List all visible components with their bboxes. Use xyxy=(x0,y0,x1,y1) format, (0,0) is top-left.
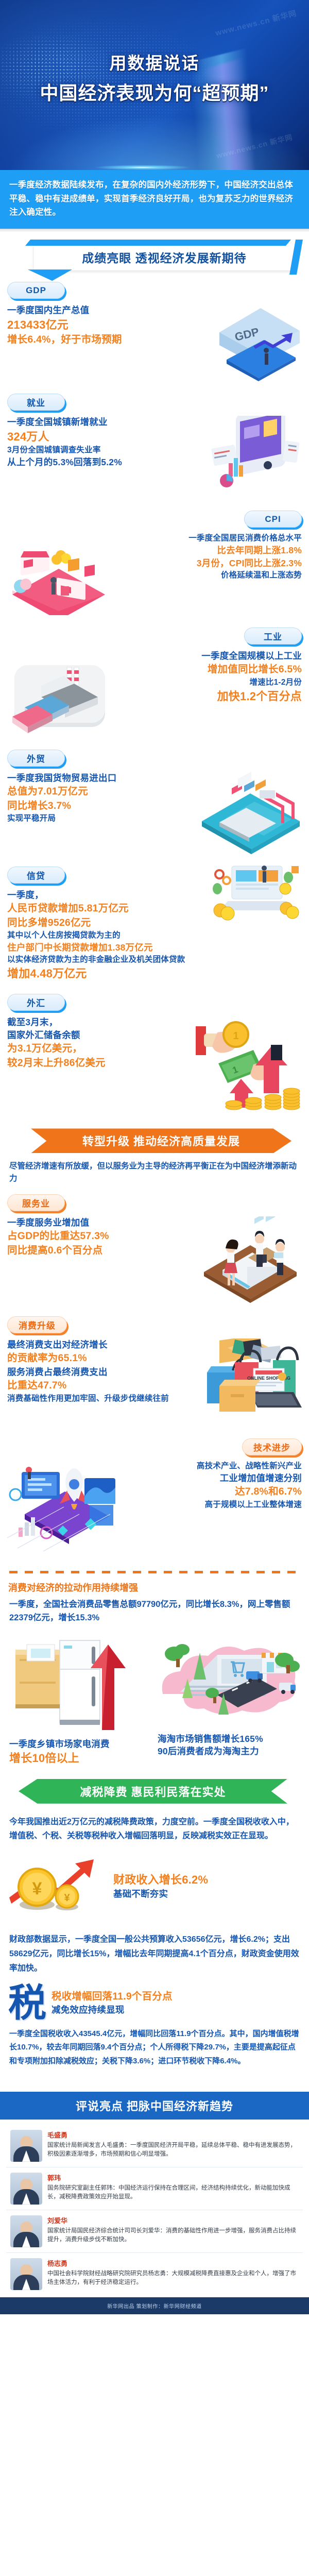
service-tag-row: 服务业 xyxy=(0,1187,309,1214)
port-ship-icon xyxy=(199,772,302,854)
trade-line-1: 一季度我国货物贸易进出口 xyxy=(7,772,196,785)
forex-tag-row: 外汇 xyxy=(0,987,309,1014)
employment-tag-row: 就业 xyxy=(0,386,309,414)
list-item: 杨志勇 中国社会科学院财经战略研究院研究员杨志勇：大规模减税降费直接惠及企业和个… xyxy=(6,2253,303,2295)
hero-title-group: 用数据说话 中国经济表现为何“超预期” xyxy=(0,49,309,105)
footer-banner-label: 评说亮点 把脉中国经济新趋势 xyxy=(76,2097,233,2114)
forex-line-1: 截至3月末， xyxy=(7,1016,191,1029)
infographic-page: www.news.cn 新华网 www.news.cn 新华网 用数据说话 中国… xyxy=(0,0,309,2314)
banner-right-bar xyxy=(289,240,303,275)
avatar xyxy=(10,2215,42,2247)
cpi-text: 一季度全国居民消费价格总水平 比去年同期上涨1.8% 3月份，CPI同比上涨2.… xyxy=(113,533,302,581)
fiscal-revenue-text: 财政收入增长6.2% 基础不断夯实 xyxy=(113,1872,302,1901)
service-line-2: 占GDP的比重达57.3% xyxy=(7,1229,196,1244)
cu-line-5: 消费基础性作用更加牢固、升级步伐继续往前 xyxy=(7,1393,201,1404)
tag-service-industry: 服务业 xyxy=(7,1194,65,1211)
expert-name: 郭玮 xyxy=(47,2173,299,2182)
bottom-stat-haitao: 海淘市场销售额增长165% 90后消费者成为海淘主力 xyxy=(156,1632,303,1767)
expert-quote: 国务院研究室副主任郭玮：中国经济运行保持在合理区间，经济结构持续优化，新动能加快… xyxy=(47,2184,299,2202)
tech-stat: 高技术产业、战略性新兴产业 工业增加值增速分别 达7.8%和6.7% 高于规模以… xyxy=(0,1459,309,1558)
trade-line-3: 同比增长3.7% xyxy=(7,799,196,814)
cu-line-3: 服务消费占最终消费支出 xyxy=(7,1366,201,1379)
credit-line-4: 其中以个人住房按揭贷款为主的 xyxy=(7,930,206,941)
expert-name: 杨志勇 xyxy=(47,2258,299,2268)
list-item: 毛盛勇 国家统计局新闻发言人毛盛勇：一季度国民经济开局平稳，延续总体平稳、稳中有… xyxy=(6,2125,303,2167)
forex-line-4: 较2月末上升86亿美元 xyxy=(7,1056,191,1071)
expert-name: 毛盛勇 xyxy=(47,2130,299,2140)
lens-flare-decoration xyxy=(75,158,209,170)
service-stat: 一季度服务业增加值 占GDP的比重达57.3% 同比提高0.6个百分点 xyxy=(0,1214,309,1309)
employment-phone-chart-icon xyxy=(204,416,302,498)
trade-text: 一季度我国货物贸易进出口 总值为7.01万亿元 同比增长3.7% 实现平稳开局 xyxy=(7,772,196,824)
tech-line-3: 达7.8%和6.7% xyxy=(124,1485,302,1499)
section2-banner: 转型升级 推动经济高质量发展 xyxy=(31,1128,291,1153)
industry-stat: 一季度全国规模以上工业 增加值同比增长6.5% 增速比1-2月份 加快1.2个百… xyxy=(0,648,309,742)
fiscal-line-2: 基础不断夯实 xyxy=(113,1888,302,1901)
hero-title-line2: 中国经济表现为何“超预期” xyxy=(9,78,300,105)
intro-block: 一季度经济数据陆续发布，在复杂的国内外经济形势下，中国经济交出总体平稳、稳中有进… xyxy=(0,170,309,229)
intro-paragraph: 一季度经济数据陆续发布，在复杂的国内外经济形势下，中国经济交出总体平稳、稳中有进… xyxy=(9,178,300,219)
tag-cpi: CPI xyxy=(244,511,302,528)
industry-tag-row: 工业 xyxy=(0,620,309,648)
service-line-3: 同比提高0.6个百分点 xyxy=(7,1244,196,1258)
coin-arrow-icon: ¥ ¥ xyxy=(7,1850,110,1922)
tax-lines: 税收增幅回落11.9个百分点 减免效应持续显现 xyxy=(51,1990,301,2017)
employment-text: 一季度全国城镇新增就业 324万人 3月份全国城镇调查失业率 从上个月的5.3%… xyxy=(7,416,201,469)
service-line-1: 一季度服务业增加值 xyxy=(7,1216,196,1229)
tag-credit: 信贷 xyxy=(7,867,65,884)
tag-foreign-trade: 外贸 xyxy=(7,750,65,767)
credit-stat: 一季度， 人民币贷款增加5.81万亿元 同比多增9526亿元 其中以个人住房按揭… xyxy=(0,887,309,987)
cpi-tag-row: CPI xyxy=(0,503,309,531)
gdp-line-3: 增长6.4%，好于市场预期 xyxy=(7,333,201,347)
tech-tag-row: 技术进步 xyxy=(0,1431,309,1459)
cpi-shopping-icon xyxy=(7,533,110,615)
budget-paragraph: 财政部数据显示，一季度全国一般公共预算收入53656亿元，增长6.2%；支出58… xyxy=(0,1927,309,1981)
cu-line-2: 的贡献率为65.1% xyxy=(7,1351,201,1366)
section3-paragraph: 今年我国推出近2万亿元的减税降费政策，力度空前。一季度全国税收收入中，增值税、个… xyxy=(0,1810,309,1848)
dashed-divider xyxy=(9,1569,300,1575)
hero-title-line1: 用数据说话 xyxy=(9,49,300,74)
expert-list: 毛盛勇 国家统计局新闻发言人毛盛勇：一季度国民经济开局平稳，延续总体平稳、稳中有… xyxy=(0,2120,309,2297)
bottom-stat-rural: 一季度乡镇市场家电消费 增长10倍以上 xyxy=(6,1632,153,1767)
industry-line-3: 增速比1-2月份 xyxy=(113,677,302,688)
list-item: 郭玮 国务院研究室副主任郭玮：中国经济运行保持在合理区间，经济结构持续优化，新动… xyxy=(6,2167,303,2210)
end-credit-bar: 新华网出品 策划制作：新华网财经频道 xyxy=(0,2297,309,2314)
consumption-upgrade-tag-row: 消费升级 xyxy=(0,1309,309,1336)
tag-employment: 就业 xyxy=(7,394,65,411)
avatar xyxy=(10,2173,42,2205)
section1-banner-label: 成绩亮眼 透视经济发展新期待 xyxy=(82,248,246,266)
svg-text:¥: ¥ xyxy=(32,1879,42,1899)
forex-line-3: 为3.1万亿美元， xyxy=(7,1042,191,1056)
industry-line-2: 增加值同比增长6.5% xyxy=(113,663,302,677)
expert-text: 刘爱华 国家统计局国民经济综合统计司司长刘爱华：消费的基础性作用进一步增强，服务… xyxy=(47,2215,299,2245)
cpi-stat: 一季度全国居民消费价格总水平 比去年同期上涨1.8% 3月份，CPI同比上涨2.… xyxy=(0,531,309,620)
fiscal-revenue-stat: ¥ ¥ 财政收入增长6.2% 基础不断夯实 xyxy=(0,1848,309,1927)
tag-gdp: GDP xyxy=(7,282,65,299)
credit-line-6: 以实体经济贷款为主的非金融企业及机关团体贷款 xyxy=(7,954,206,965)
gdp-tag-row: GDP xyxy=(0,275,309,302)
avatar xyxy=(10,2258,42,2290)
credit-line-2: 人民币贷款增加5.81万亿元 xyxy=(7,902,206,916)
employment-line-2: 324万人 xyxy=(7,429,201,445)
industry-text: 一季度全国规模以上工业 增加值同比增长6.5% 增速比1-2月份 加快1.2个百… xyxy=(113,650,302,704)
footer-banner: 评说亮点 把脉中国经济新趋势 xyxy=(0,2092,309,2120)
svg-text:¥: ¥ xyxy=(64,1892,70,1904)
consumption-heading: 消费对经济的拉动作用持续增强 xyxy=(0,1578,309,1596)
rural-line-2: 增长10倍以上 xyxy=(6,1750,153,1766)
tag-consumption-upgrade: 消费升级 xyxy=(7,1316,67,1333)
section3-banner: 减税降费 惠民利民落在实处 xyxy=(19,1779,287,1804)
gdp-arrow-box-icon: GDP xyxy=(204,304,302,381)
employment-line-3: 3月份全国城镇调查失业率 xyxy=(7,445,201,456)
list-item: 刘爱华 国家统计局国民经济综合统计司司长刘爱华：消费的基础性作用进一步增强，服务… xyxy=(6,2210,303,2253)
service-counter-icon xyxy=(199,1216,302,1304)
credit-line-7: 增加4.48万亿元 xyxy=(7,965,206,981)
tech-line-4: 高于规模以上工业整体增速 xyxy=(124,1499,302,1511)
section1-banner: 成绩亮眼 透视经济发展新期待 xyxy=(34,244,295,270)
fiscal-line-1: 财政收入增长6.2% xyxy=(113,1872,302,1888)
tax-line-2: 减免效应持续显现 xyxy=(51,2004,301,2016)
tech-line-1: 高技术产业、战略性新兴产业 xyxy=(124,1461,302,1472)
haitao-line-1: 海淘市场销售额增长165% xyxy=(156,1733,303,1745)
tax-line-1: 税收增幅回落11.9个百分点 xyxy=(51,1990,301,2004)
section2-lead: 尽管经济增速有所放缓，但以服务业为主导的经济再平衡正在为中国经济增添新动力 xyxy=(0,1158,309,1187)
cpi-line-4: 价格延续温和上涨态势 xyxy=(113,570,302,581)
svg-text:1: 1 xyxy=(233,1030,238,1042)
tag-forex: 外汇 xyxy=(7,994,65,1011)
forex-stat: 截至3月末， 国家外汇储备余额 为3.1万亿美元， 较2月末上升86亿美元 1 … xyxy=(0,1014,309,1119)
section3-banner-label: 减税降费 惠民利民落在实处 xyxy=(80,1783,226,1800)
expert-quote: 国家统计局国民经济综合统计司司长刘爱华：消费的基础性作用进一步增强，服务消费占比… xyxy=(47,2227,299,2245)
tech-text: 高技术产业、战略性新兴产业 工业增加值增速分别 达7.8%和6.7% 高于规模以… xyxy=(124,1461,302,1511)
expert-text: 郭玮 国务院研究室副主任郭玮：中国经济运行保持在合理区间，经济结构持续优化，新动… xyxy=(47,2173,299,2202)
bottom-stats-row: 一季度乡镇市场家电消费 增长10倍以上 xyxy=(0,1627,309,1767)
credit-text: 一季度， 人民币贷款增加5.81万亿元 同比多增9526亿元 其中以个人住房按揭… xyxy=(7,889,206,981)
expert-text: 毛盛勇 国家统计局新闻发言人毛盛勇：一季度国民经济开局平稳，延续总体平稳、稳中有… xyxy=(47,2130,299,2159)
tax-detail-paragraph: 一季度全国税收收入43545.4亿元，增幅同比回落11.9个百分点。其中，国内增… xyxy=(0,2024,309,2077)
trade-stat: 一季度我国货物贸易进出口 总值为7.01万亿元 同比增长3.7% 实现平稳开局 xyxy=(0,770,309,859)
consumption-paragraph: 一季度，全国社会消费品零售总额97790亿元，同比增长8.3%，网上零售额223… xyxy=(0,1596,309,1626)
gdp-stat: 一季度国内生产总值 213433亿元 增长6.4%，好于市场预期 GDP xyxy=(0,302,309,386)
haitao-line-2: 90后消费者成为海淘主力 xyxy=(156,1745,303,1758)
forex-text: 截至3月末， 国家外汇储备余额 为3.1万亿美元， 较2月末上升86亿美元 xyxy=(7,1016,191,1070)
credit-line-1: 一季度， xyxy=(7,889,206,902)
tag-industry: 工业 xyxy=(244,628,302,645)
forex-line-2: 国家外汇储备余额 xyxy=(7,1029,191,1042)
service-text: 一季度服务业增加值 占GDP的比重达57.3% 同比提高0.6个百分点 xyxy=(7,1216,196,1258)
gdp-line-2: 213433亿元 xyxy=(7,317,201,333)
rural-line-1: 一季度乡镇市场家电消费 xyxy=(6,1738,153,1751)
expert-text: 杨志勇 中国社会科学院财经战略研究院研究员杨志勇：大规模减税降费直接惠及企业和个… xyxy=(47,2258,299,2287)
cpi-line-1: 一季度全国居民消费价格总水平 xyxy=(113,533,302,544)
trade-line-2: 总值为7.01万亿元 xyxy=(7,785,196,799)
expert-quote: 国家统计局新闻发言人毛盛勇：一季度国民经济开局平稳，延续总体平稳、稳中有进发展态… xyxy=(47,2141,299,2159)
avatar xyxy=(10,2130,42,2162)
tax-glyph: 税 xyxy=(8,1984,46,2022)
intro-shadow-divider xyxy=(0,229,309,232)
factory-icon xyxy=(7,650,110,737)
cu-line-4: 比重达47.7% xyxy=(7,1379,201,1393)
money-hands-coins-icon: 1 1 xyxy=(194,1016,302,1114)
industry-line-1: 一季度全国规模以上工业 xyxy=(113,650,302,663)
rocket-tech-icon xyxy=(7,1461,121,1553)
trade-line-4: 实现平稳开局 xyxy=(7,813,196,824)
tax-block: 税 税收增幅回落11.9个百分点 减免效应持续显现 xyxy=(0,1981,309,2024)
employment-stat: 一季度全国城镇新增就业 324万人 3月份全国城镇调查失业率 从上个月的5.3%… xyxy=(0,414,309,503)
industry-line-4: 加快1.2个百分点 xyxy=(113,688,302,704)
shopping-bags-laptop-icon: ONLINE SHOPPING xyxy=(204,1338,302,1426)
gdp-line-1: 一季度国内生产总值 xyxy=(7,304,201,317)
cu-line-1: 最终消费支出对经济增长 xyxy=(7,1338,201,1351)
employment-line-4: 从上个月的5.3%回落到5.2% xyxy=(7,456,201,469)
tag-technology-progress: 技术进步 xyxy=(242,1438,302,1455)
expert-quote: 中国社会科学院财经战略研究院研究员杨志勇：大规模减税降费直接惠及企业和个人，增强… xyxy=(47,2269,299,2287)
cpi-line-2: 比去年同期上涨1.8% xyxy=(113,544,302,557)
section2-banner-label: 转型升级 推动经济高质量发展 xyxy=(82,1132,240,1149)
cpi-line-3: 3月份，CPI同比上涨2.3% xyxy=(113,557,302,570)
consumption-upgrade-text: 最终消费支出对经济增长 的贡献率为65.1% 服务消费占最终消费支出 比重达47… xyxy=(7,1338,201,1404)
credit-line-5: 住户部门中长期贷款增加1.38万亿元 xyxy=(7,941,206,954)
expert-name: 刘爱华 xyxy=(47,2215,299,2225)
trade-tag-row: 外贸 xyxy=(0,742,309,770)
section1-banner-wrap: 成绩亮眼 透视经济发展新期待 xyxy=(0,232,309,275)
credit-line-3: 同比多增9526亿元 xyxy=(7,916,206,930)
ecommerce-city-icon xyxy=(156,1632,303,1733)
employment-line-1: 一季度全国城镇新增就业 xyxy=(7,416,201,429)
hero-banner: www.news.cn 新华网 www.news.cn 新华网 用数据说话 中国… xyxy=(0,0,309,170)
tech-line-2: 工业增加值增速分别 xyxy=(124,1472,302,1485)
refrigerator-arrow-icon xyxy=(6,1632,153,1738)
consumption-upgrade-stat: 最终消费支出对经济增长 的贡献率为65.1% 服务消费占最终消费支出 比重达47… xyxy=(0,1336,309,1431)
gdp-text: 一季度国内生产总值 213433亿元 增长6.4%，好于市场预期 xyxy=(7,304,201,347)
laptop-coins-icon xyxy=(209,859,302,936)
